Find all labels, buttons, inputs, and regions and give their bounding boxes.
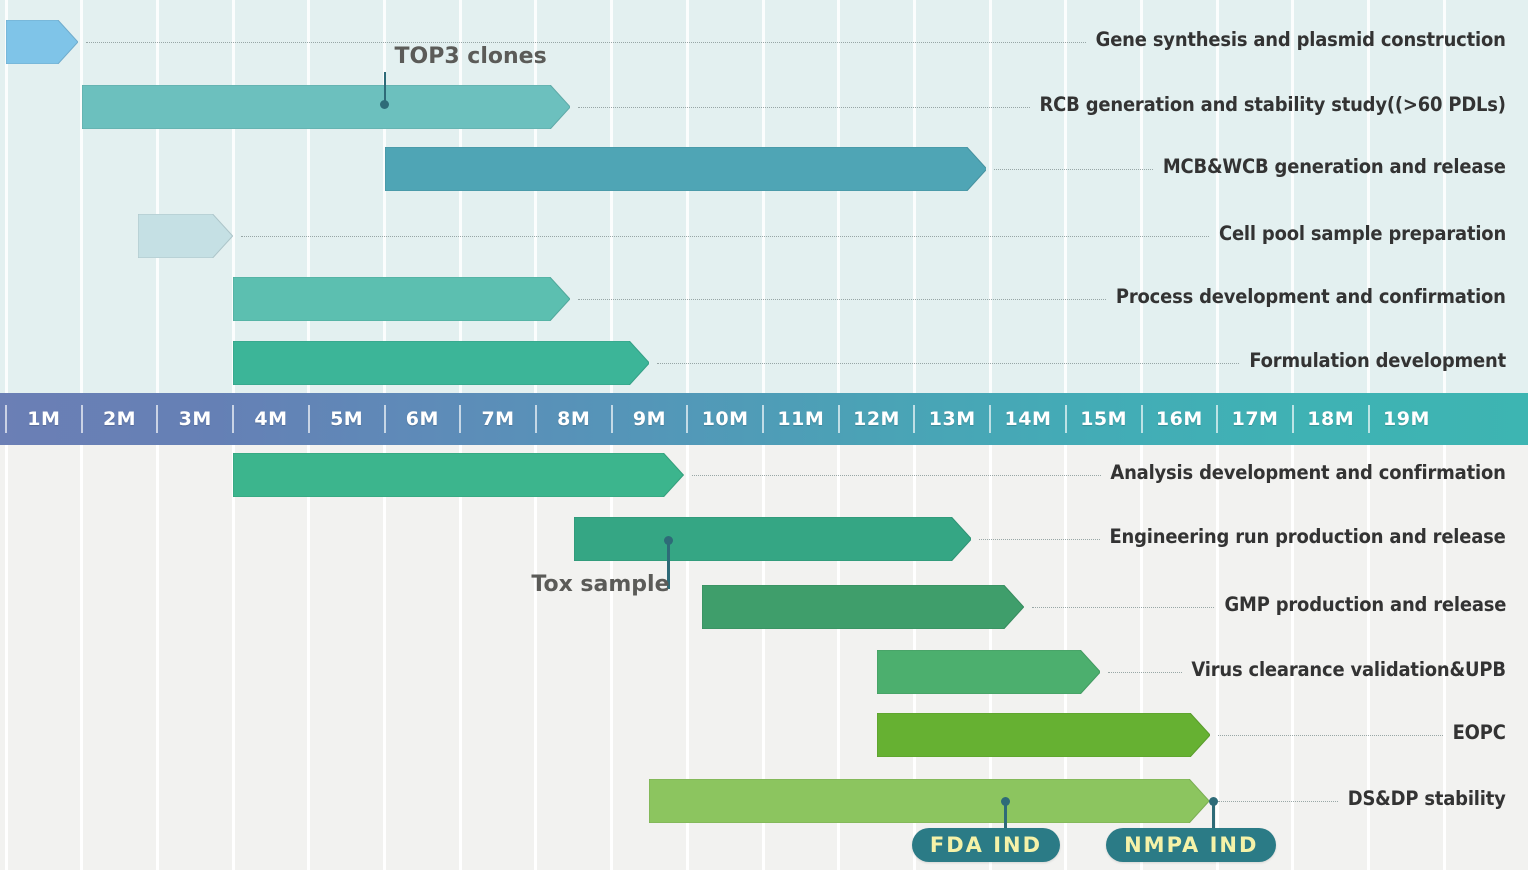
gridline-month-2 [156,0,159,393]
axis-tick-divider-16 [1216,405,1218,433]
gantt-bar[interactable] [82,85,570,129]
milestone-badge-fda-ind[interactable]: FDA IND [912,828,1060,862]
task-label: RCB generation and stability study((>60 … [1040,93,1506,116]
bar-shape [649,779,1209,823]
annotation-tox-sample: Tox sample [531,572,669,597]
axis-tick-divider-8 [611,405,613,433]
axis-tick-divider-4 [308,405,310,433]
milestone-badge-nmpa-ind[interactable]: NMPA IND [1106,828,1276,862]
gridline-lower-month-8 [610,445,613,870]
task-label: Cell pool sample preparation [1219,222,1506,245]
axis-tick-label-14m: 14M [990,393,1066,445]
axis-tick-label-12m: 12M [839,393,915,445]
axis-tick-label-7m: 7M [460,393,536,445]
axis-tick-divider-18 [1368,405,1370,433]
gantt-bar[interactable] [233,277,570,321]
axis-tick-divider-5 [384,405,386,433]
leader-line [1108,672,1182,673]
gridline-month-13 [989,0,992,393]
axis-tick-label-8m: 8M [536,393,612,445]
axis-tick-label-16m: 16M [1142,393,1218,445]
leader-line [578,107,1030,108]
axis-tick-label-5m: 5M [309,393,385,445]
bar-shape [702,585,1024,629]
bar-shape [233,453,683,497]
task-label: Engineering run production and release [1110,525,1506,548]
axis-tick-label-1m: 1M [6,393,82,445]
task-label: MCB&WCB generation and release [1163,155,1506,178]
gridline-lower-month-1 [80,445,83,870]
bar-shape [233,341,649,385]
gridline-lower-month-3 [232,445,235,870]
axis-tick-divider-2 [156,405,158,433]
axis-tick-label-2m: 2M [82,393,158,445]
axis-tick-divider-0 [5,405,7,433]
task-label: DS&DP stability [1348,787,1506,810]
gridline-month-19 [1443,0,1446,393]
leader-line [1218,735,1443,736]
axis-tick-divider-11 [838,405,840,433]
gridline-lower-month-7 [534,445,537,870]
gridline-lower-month-2 [156,445,159,870]
gridline-month-3 [232,0,235,393]
gantt-bar[interactable] [385,147,987,191]
gantt-bar[interactable] [574,517,971,561]
axis-tick-label-10m: 10M [687,393,763,445]
task-label: Formulation development [1249,349,1506,372]
task-label: Analysis development and confirmation [1111,461,1506,484]
leader-line [86,42,1086,43]
bar-shape [877,713,1210,757]
bar-shape [574,517,971,561]
axis-tick-label-13m: 13M [914,393,990,445]
axis-tick-label-15m: 15M [1066,393,1142,445]
leader-line [692,475,1101,476]
axis-tick-label-3m: 3M [157,393,233,445]
leader-line [1032,607,1214,608]
gridline-month-16 [1216,0,1219,393]
axis-tick-label-4m: 4M [233,393,309,445]
leader-line [1218,801,1338,802]
gridline-month-4 [307,0,310,393]
axis-tick-label-6m: 6M [385,393,461,445]
axis-tick-divider-15 [1141,405,1143,433]
gridline-month-11 [837,0,840,393]
axis-tick-label-18m: 18M [1293,393,1369,445]
axis-tick-label-11m: 11M [763,393,839,445]
bar-shape [877,650,1100,694]
gridline-lower-month-5 [383,445,386,870]
gantt-bar[interactable] [702,585,1024,629]
gridline-month-18 [1367,0,1370,393]
milestone-dot-fda-ind [1001,797,1010,806]
gantt-chart: 1M2M3M4M5M6M7M8M9M10M11M12M13M14M15M16M1… [0,0,1528,870]
task-label: EOPC [1453,721,1506,744]
leader-line [657,363,1239,364]
axis-tick-divider-10 [762,405,764,433]
bar-shape [138,214,233,258]
gantt-bar[interactable] [877,713,1210,757]
axis-tick-divider-6 [459,405,461,433]
gridline-lower-month-4 [307,445,310,870]
axis-tick-label-9m: 9M [612,393,688,445]
axis-tick-divider-17 [1292,405,1294,433]
gridline-month-9 [686,0,689,393]
gantt-bar[interactable] [233,341,649,385]
task-label: Virus clearance validation&UPB [1192,658,1506,681]
gridline-month-10 [762,0,765,393]
leader-line [241,236,1209,237]
bar-shape [6,20,78,64]
gantt-bar[interactable] [877,650,1100,694]
gridline-month-15 [1140,0,1143,393]
gridline-month-8 [610,0,613,393]
axis-tick-divider-7 [535,405,537,433]
gantt-bar[interactable] [233,453,683,497]
task-label: GMP production and release [1224,593,1506,616]
gantt-bar[interactable] [649,779,1209,823]
milestone-dot-nmpa-ind [1209,797,1218,806]
leader-line [994,169,1153,170]
axis-tick-label-17m: 17M [1217,393,1293,445]
annotation-dot-top3-clones [380,100,389,109]
leader-line [979,539,1100,540]
task-label: Process development and confirmation [1116,285,1506,308]
gantt-bar[interactable] [6,20,78,64]
gridline-month-14 [1064,0,1067,393]
annotation-top3-clones: TOP3 clones [395,44,547,69]
gridline-lower-month-0 [5,445,8,870]
gridline-lower-month-6 [459,445,462,870]
annotation-dot-tox-sample [664,536,673,545]
bar-shape [233,277,570,321]
gridline-month-12 [913,0,916,393]
axis-tick-divider-9 [686,405,688,433]
bar-shape [82,85,570,129]
axis-tick-divider-3 [232,405,234,433]
gantt-bar[interactable] [138,214,233,258]
gridline-month-1 [80,0,83,393]
axis-tick-divider-14 [1065,405,1067,433]
leader-line [578,299,1106,300]
bar-shape [385,147,987,191]
axis-tick-divider-13 [989,405,991,433]
axis-tick-divider-1 [81,405,83,433]
task-label: Gene synthesis and plasmid construction [1096,28,1506,51]
gridline-month-17 [1291,0,1294,393]
axis-tick-label-19m: 19M [1369,393,1445,445]
gridline-month-5 [383,0,386,393]
axis-tick-divider-12 [913,405,915,433]
